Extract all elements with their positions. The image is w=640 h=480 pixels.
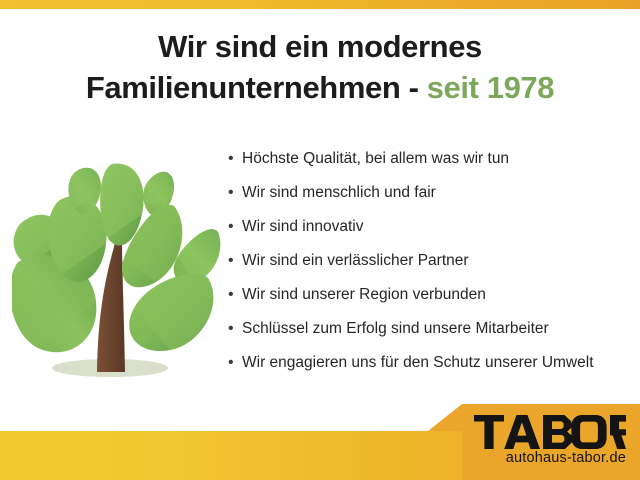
list-item: • Höchste Qualität, bei allem was wir tu… — [228, 148, 640, 182]
list-item-label: Wir engagieren uns für den Schutz unsere… — [242, 352, 594, 374]
list-item: • Schlüssel zum Erfolg sind unsere Mitar… — [228, 318, 640, 352]
bullet-marker-icon: • — [228, 318, 242, 340]
brand-url: autohaus-tabor.de — [420, 450, 626, 466]
list-item: • Wir sind ein verlässlicher Partner — [228, 250, 640, 284]
list-item: • Wir engagieren uns für den Schutz unse… — [228, 352, 640, 386]
bullet-marker-icon: • — [228, 216, 242, 238]
bullet-marker-icon: • — [228, 148, 242, 170]
bullet-marker-icon: • — [228, 182, 242, 204]
list-item: • Wir sind unserer Region verbunden — [228, 284, 640, 318]
list-item-label: Wir sind innovativ — [242, 216, 363, 238]
list-item-label: Wir sind ein verlässlicher Partner — [242, 250, 469, 272]
top-accent-bar — [0, 0, 640, 9]
slide-canvas: Wir sind ein modernes Familienunternehme… — [0, 0, 640, 480]
headline-line-2: Familienunternehmen - seit 1978 — [0, 67, 640, 108]
value-bullet-list: • Höchste Qualität, bei allem was wir tu… — [228, 148, 640, 386]
list-item: • Wir sind innovativ — [228, 216, 640, 250]
list-item-label: Wir sind unserer Region verbunden — [242, 284, 486, 306]
headline-line-1: Wir sind ein modernes — [158, 29, 482, 64]
bullet-marker-icon: • — [228, 250, 242, 272]
list-item-label: Wir sind menschlich und fair — [242, 182, 436, 204]
headline-line-2-main: Familienunternehmen - — [86, 70, 427, 105]
bullet-marker-icon: • — [228, 284, 242, 306]
tree-icon — [12, 162, 224, 390]
brand-logo — [474, 415, 626, 449]
list-item-label: Schlüssel zum Erfolg sind unsere Mitarbe… — [242, 318, 549, 340]
list-item-label: Höchste Qualität, bei allem was wir tun — [242, 148, 509, 170]
bullet-marker-icon: • — [228, 352, 242, 374]
headline-accent-seit-1978: seit 1978 — [427, 70, 554, 105]
list-item: • Wir sind menschlich und fair — [228, 182, 640, 216]
page-title: Wir sind ein modernes Familienunternehme… — [0, 26, 640, 108]
